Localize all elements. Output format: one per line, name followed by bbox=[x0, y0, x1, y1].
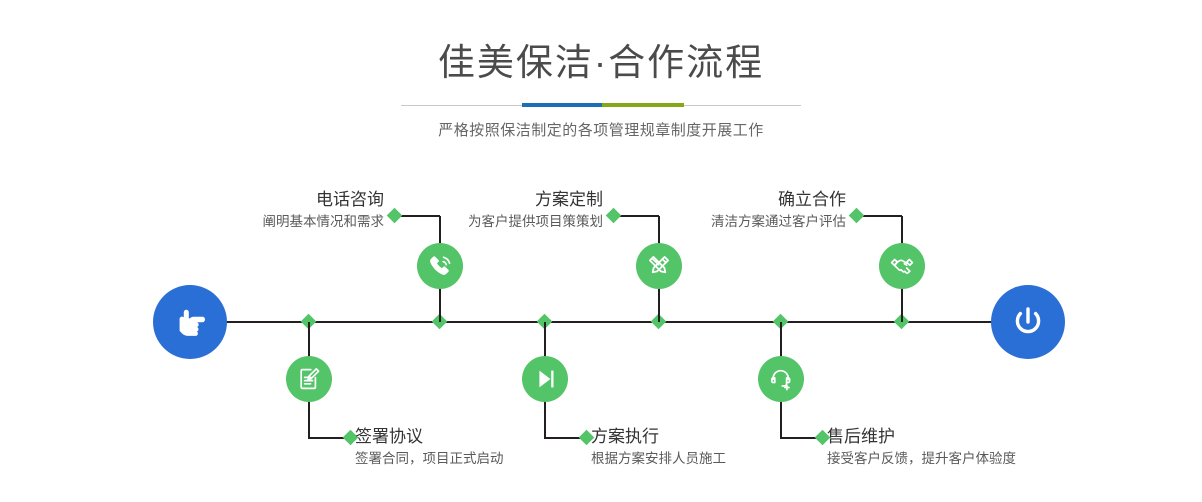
step-icon-plan-customize[interactable] bbox=[636, 243, 682, 289]
step-title: 方案定制 bbox=[370, 189, 603, 212]
flowchart-canvas: 佳美保洁·合作流程 严格按照保洁制定的各项管理规章制度开展工作 bbox=[0, 0, 1202, 502]
pencil-ruler-icon bbox=[645, 252, 673, 280]
step-title: 售后维护 bbox=[827, 426, 1107, 449]
divider-segment-olive bbox=[602, 103, 684, 107]
timeline-end-node[interactable] bbox=[991, 285, 1065, 359]
step-label-phone-consult: 电话咨询 阐明基本情况和需求 bbox=[150, 189, 384, 232]
step-label-sign-agreement: 签署协议 签署合同，项目正式启动 bbox=[355, 426, 605, 469]
step-label-plan-execution: 方案执行 根据方案安排人员施工 bbox=[591, 426, 841, 469]
step-desc: 签署合同，项目正式启动 bbox=[355, 449, 605, 469]
step-desc: 阐明基本情况和需求 bbox=[150, 212, 384, 232]
phone-call-icon bbox=[426, 252, 454, 280]
step-desc: 清洁方案通过客户评估 bbox=[612, 212, 846, 232]
step-icon-after-sales[interactable] bbox=[758, 356, 804, 402]
timeline-start-node[interactable] bbox=[153, 285, 227, 359]
step-title: 电话咨询 bbox=[150, 189, 384, 212]
step-label-establish-cooperation: 确立合作 清洁方案通过客户评估 bbox=[612, 189, 846, 232]
label-marker bbox=[849, 208, 865, 224]
step-icon-sign-agreement[interactable] bbox=[286, 356, 332, 402]
step-icon-plan-execution[interactable] bbox=[522, 356, 568, 402]
step-desc: 接受客户反馈，提升客户体验度 bbox=[827, 449, 1107, 469]
step-desc: 为客户提供项目策策划 bbox=[370, 212, 603, 232]
step-label-after-sales: 售后维护 接受客户反馈，提升客户体验度 bbox=[827, 426, 1107, 469]
customer-service-add-icon bbox=[767, 365, 795, 393]
header: 佳美保洁·合作流程 严格按照保洁制定的各项管理规章制度开展工作 bbox=[0, 0, 1202, 140]
page-subtitle: 严格按照保洁制定的各项管理规章制度开展工作 bbox=[0, 119, 1202, 140]
divider-segment-blue bbox=[522, 103, 602, 107]
power-icon bbox=[1006, 300, 1050, 344]
document-pen-icon bbox=[295, 365, 323, 393]
step-icon-phone-consult[interactable] bbox=[417, 243, 463, 289]
step-label-plan-customize: 方案定制 为客户提供项目策策划 bbox=[370, 189, 603, 232]
play-execute-icon bbox=[531, 365, 559, 393]
step-desc: 根据方案安排人员施工 bbox=[591, 449, 841, 469]
page-title: 佳美保洁·合作流程 bbox=[0, 0, 1202, 81]
handshake-icon bbox=[888, 252, 916, 280]
step-title: 确立合作 bbox=[612, 189, 846, 212]
pointing-hand-icon bbox=[169, 301, 211, 343]
title-divider bbox=[401, 103, 801, 107]
step-icon-establish-cooperation[interactable] bbox=[879, 243, 925, 289]
